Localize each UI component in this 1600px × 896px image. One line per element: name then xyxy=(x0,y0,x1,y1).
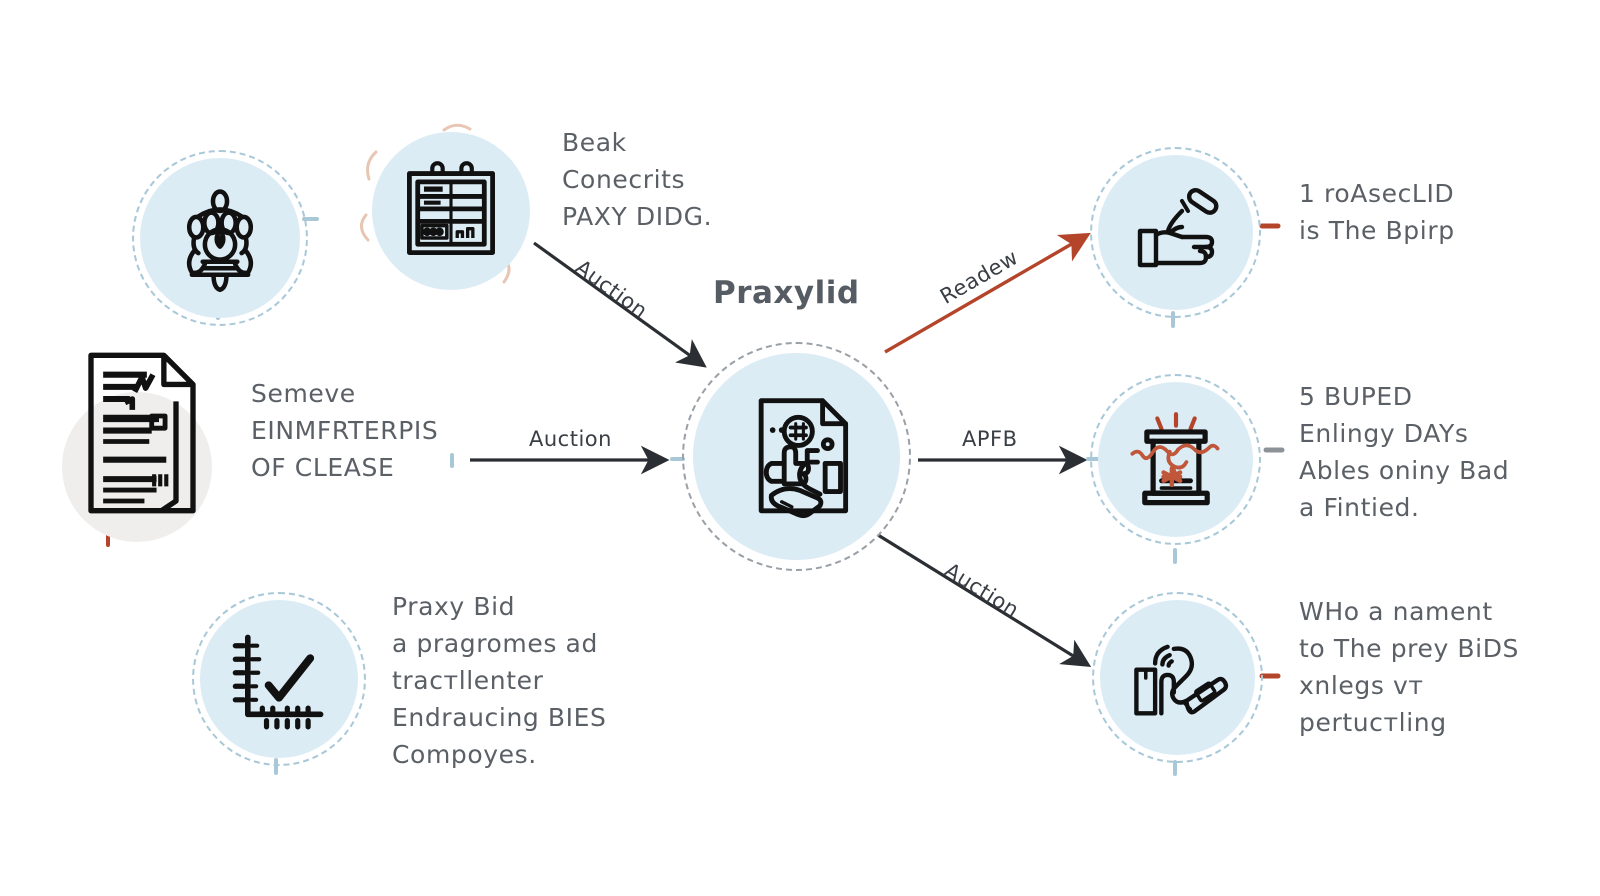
hand-gavel-icon xyxy=(1126,183,1226,283)
label-chart: Praxy Bid a pragromes ad tracтllenter En… xyxy=(392,588,662,773)
node-clipboard[interactable] xyxy=(372,132,530,290)
calendar-clipboard-icon xyxy=(399,159,503,263)
hand-cash-icon xyxy=(1126,626,1230,730)
edge-label-mid-right: APFB xyxy=(962,427,1018,451)
label-clipboard: Beak Conecrits PAXY DIDG. xyxy=(562,124,802,235)
diagram-canvas: Praxylid xyxy=(0,0,1600,896)
document-handshake-icon xyxy=(733,393,861,521)
edge-label-mid-left: Auction xyxy=(529,427,612,451)
center-title: Praxylid xyxy=(713,275,860,311)
document-page-icon xyxy=(81,348,203,518)
edge-label-bottom-right: Auction xyxy=(940,558,1023,622)
label-podium: 5 BUPED Enlingy DAYs Ables oniny Bad a F… xyxy=(1299,378,1584,526)
flower-sprout-icon xyxy=(166,184,274,292)
node-document[interactable] xyxy=(78,345,206,520)
node-podium[interactable] xyxy=(1098,382,1253,537)
edge-label-top-left: Auction xyxy=(571,255,652,323)
podium-burst-icon xyxy=(1124,408,1228,512)
edge-label-top-right: Readew xyxy=(936,245,1022,309)
label-money: WHo a nament to The prey BiDS xnlegs vт … xyxy=(1299,593,1584,741)
edge-top-right-arrow xyxy=(885,238,1082,352)
node-money[interactable] xyxy=(1100,600,1255,755)
node-gavel[interactable] xyxy=(1098,155,1253,310)
node-chart[interactable] xyxy=(200,600,358,758)
label-gavel: 1 roAsecLID is The Bpirp xyxy=(1299,175,1579,249)
label-document: Semeve EINMFRTERPIS OF CLEASE xyxy=(251,375,481,486)
chart-checkmark-icon xyxy=(227,627,331,731)
node-flower[interactable] xyxy=(140,158,300,318)
node-center[interactable] xyxy=(693,353,900,560)
